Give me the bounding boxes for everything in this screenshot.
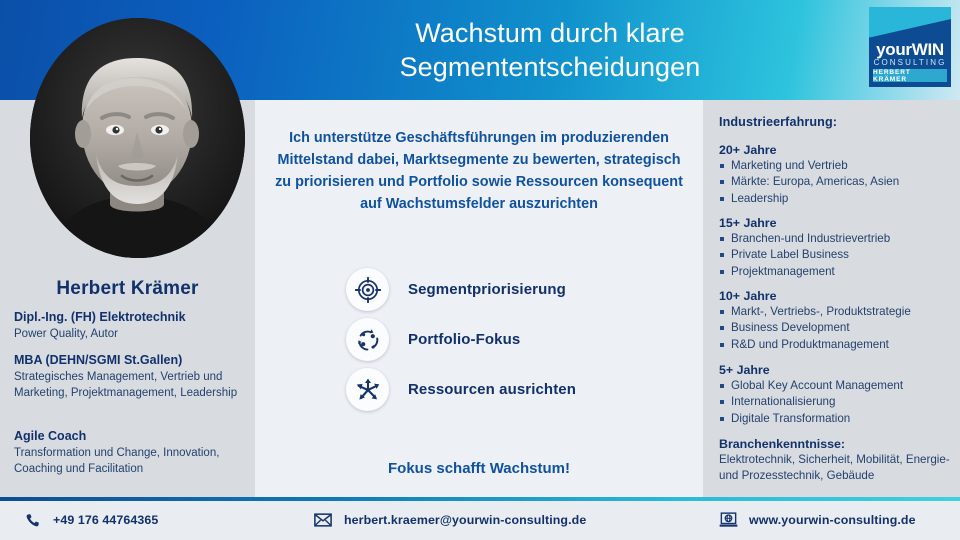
page-title-line1: Wachstum durch klare: [415, 18, 685, 48]
avatar: [30, 18, 245, 258]
experience-item: Branchen-und Industrievertrieb: [719, 231, 957, 247]
experience-group: 5+ Jahre Global Key Account Management I…: [719, 363, 957, 427]
feature-row-segmentpriorisierung: Segmentpriorisierung: [346, 268, 566, 311]
experience-item: Digitale Transformation: [719, 411, 957, 427]
credential-detail: Power Quality, Autor: [14, 326, 246, 342]
feature-row-portfolio-fokus: Portfolio-Fokus: [346, 318, 520, 361]
branch-title: Branchenkenntnisse:: [719, 437, 957, 451]
experience-item: Markt-, Vertriebs-, Produktstrategie: [719, 304, 957, 320]
experience-item: Märkte: Europa, Americas, Asien: [719, 174, 957, 190]
feature-label: Portfolio-Fokus: [408, 331, 520, 348]
experience-years: 10+ Jahre: [719, 289, 957, 303]
cycle-icon: [346, 318, 389, 361]
experience-item: R&D und Produktmanagement: [719, 337, 957, 353]
email-text: herbert.kraemer@yourwin-consulting.de: [344, 513, 586, 527]
footer-bar: +49 176 44764365 herbert.kraemer@yourwin…: [0, 501, 960, 540]
tagline: Fokus schafft Wachstum!: [255, 460, 703, 477]
page-title-line2: Segmententscheidungen: [255, 50, 845, 84]
credential-item: Dipl.-Ing. (FH) Elektrotechnik Power Qua…: [14, 309, 246, 342]
experience-years: 5+ Jahre: [719, 363, 957, 377]
credential-detail: Strategisches Management, Vertrieb und M…: [14, 369, 246, 402]
experience-item: Projektmanagement: [719, 264, 957, 280]
intro-statement: Ich unterstütze Geschäftsführungen im pr…: [270, 128, 688, 216]
experience-item: Marketing und Vertrieb: [719, 158, 957, 174]
person-name: Herbert Krämer: [0, 278, 255, 300]
experience-item: Global Key Account Management: [719, 378, 957, 394]
branch-body: Elektrotechnik, Sicherheit, Mobilität, E…: [719, 452, 957, 485]
credential-item: Agile Coach Transformation und Change, I…: [14, 428, 246, 478]
feature-label: Ressourcen ausrichten: [408, 381, 576, 398]
company-logo: yourWIN CONSULTING HERBERT KRÄMER: [869, 7, 951, 87]
target-icon: [346, 268, 389, 311]
experience-item: Internationalisierung: [719, 394, 957, 410]
credential-item: MBA (DEHN/SGMI St.Gallen) Strategisches …: [14, 352, 246, 402]
website-text: www.yourwin-consulting.de: [749, 513, 916, 527]
phone-icon: [22, 511, 42, 529]
feature-label: Segmentpriorisierung: [408, 281, 566, 298]
laptop-globe-icon: [718, 511, 738, 529]
page-title: Wachstum durch klare Segmententscheidung…: [255, 16, 845, 84]
industry-experience-title: Industrieerfahrung:: [719, 115, 957, 129]
slide-root: Wachstum durch klare Segmententscheidung…: [0, 0, 960, 540]
logo-subtitle: CONSULTING: [869, 59, 951, 67]
logo-wordmark: yourWIN: [869, 41, 951, 58]
experience-years: 20+ Jahre: [719, 143, 957, 157]
credential-title: MBA (DEHN/SGMI St.Gallen): [14, 352, 246, 369]
experience-group: 10+ Jahre Markt-, Vertriebs-, Produktstr…: [719, 289, 957, 353]
logo-name-text: HERBERT KRÄMER: [873, 69, 947, 83]
envelope-icon: [313, 511, 333, 529]
experience-group: 20+ Jahre Marketing und Vertrieb Märkte:…: [719, 143, 957, 207]
scatter-arrows-icon: [346, 368, 389, 411]
experience-item: Business Development: [719, 320, 957, 336]
experience-item: Leadership: [719, 191, 957, 207]
credential-title: Dipl.-Ing. (FH) Elektrotechnik: [14, 309, 246, 326]
credential-title: Agile Coach: [14, 428, 246, 445]
contact-email[interactable]: herbert.kraemer@yourwin-consulting.de: [313, 511, 586, 529]
contact-website[interactable]: www.yourwin-consulting.de: [718, 511, 916, 529]
branch-knowledge: Branchenkenntnisse: Elektrotechnik, Sich…: [719, 437, 957, 485]
phone-text: +49 176 44764365: [53, 513, 158, 527]
contact-phone[interactable]: +49 176 44764365: [22, 511, 158, 529]
credential-detail: Transformation und Change, Innovation, C…: [14, 445, 246, 478]
experience-item: Private Label Business: [719, 247, 957, 263]
feature-row-ressourcen-ausrichten: Ressourcen ausrichten: [346, 368, 576, 411]
experience-years: 15+ Jahre: [719, 216, 957, 230]
experience-group: 15+ Jahre Branchen-und Industrievertrieb…: [719, 216, 957, 280]
logo-name-bar: HERBERT KRÄMER: [873, 69, 947, 82]
